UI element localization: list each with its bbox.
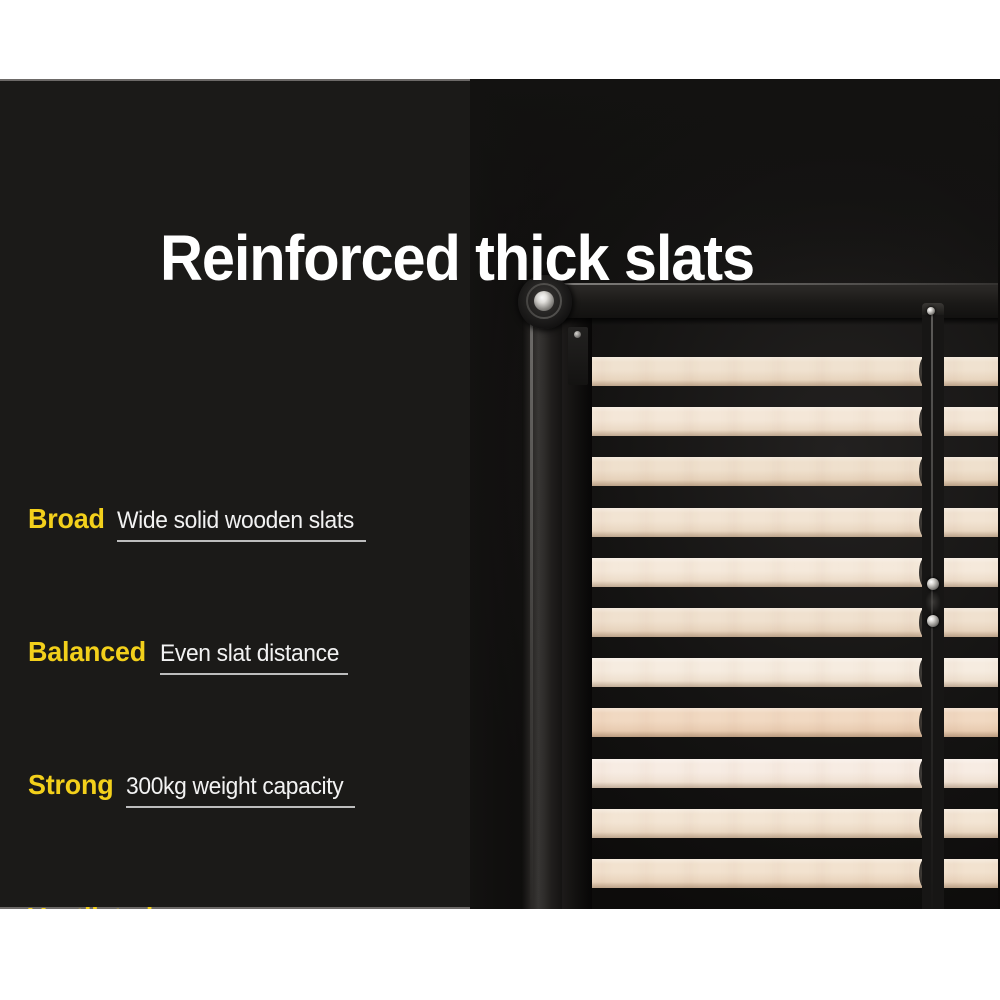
wooden-slat [588, 457, 926, 486]
wooden-slat [940, 658, 1000, 687]
dark-content-panel: Reinforced thick slats BroadWide solid w… [0, 79, 1000, 909]
feature-description: 300kg weight capacity [126, 773, 343, 801]
slat-highlight [940, 407, 1000, 412]
wooden-slat [588, 859, 926, 888]
wooden-slat [588, 708, 926, 737]
wooden-slat [588, 759, 926, 788]
slat-shadow [940, 531, 1000, 537]
feature-term: Broad [28, 503, 105, 535]
center-bar-joint [925, 591, 941, 613]
slat-shadow [588, 882, 926, 888]
feature-row: BalancedEven slat distance [28, 636, 348, 675]
page-title: Reinforced thick slats [160, 226, 830, 290]
slat-shadow [588, 380, 926, 386]
slat-highlight [588, 508, 926, 513]
slat-shadow [588, 782, 926, 788]
feature-row: Strong300kg weight capacity [28, 769, 355, 808]
wooden-slat [940, 809, 1000, 838]
slat-shadow [940, 480, 1000, 486]
wooden-slat [588, 608, 926, 637]
slat-shadow [588, 581, 926, 587]
slat-shadow [940, 631, 1000, 637]
slat-shadow [588, 631, 926, 637]
slat-shadow [588, 832, 926, 838]
slat-highlight [940, 608, 1000, 613]
feature-term: Ventilated [28, 902, 153, 909]
slat-highlight [588, 759, 926, 764]
feature-item: BalancedEven slat distance [0, 542, 540, 675]
center-bar-screw-lower-icon [927, 615, 939, 627]
wooden-slat [940, 859, 1000, 888]
wooden-slat [940, 558, 1000, 587]
slat-highlight [940, 457, 1000, 462]
feature-description-wrap: Even slat distance [160, 640, 348, 675]
slat-shadow [940, 731, 1000, 737]
slat-highlight [940, 759, 1000, 764]
slat-highlight [588, 859, 926, 864]
slat-shadow [940, 581, 1000, 587]
feature-item: BroadWide solid wooden slats [0, 409, 540, 542]
slat-shadow [588, 531, 926, 537]
wooden-slat [588, 658, 926, 687]
wooden-slat [940, 407, 1000, 436]
feature-description-wrap: Wide solid wooden slats [117, 507, 366, 542]
slat-highlight [940, 809, 1000, 814]
left-rail-inner-face [562, 297, 592, 909]
slat-shadow [940, 832, 1000, 838]
slat-highlight [588, 558, 926, 563]
center-bar-screw-top-icon [927, 307, 935, 315]
feature-row: VentilatedFresh and dry mattress at all … [28, 902, 523, 909]
center-bar-screw-middle-icon [927, 578, 939, 590]
slat-shadow [588, 430, 926, 436]
slat-shadow [940, 430, 1000, 436]
slat-highlight [588, 708, 926, 713]
slat-shadow [940, 782, 1000, 788]
feature-description-wrap: 300kg weight capacity [126, 773, 355, 808]
wooden-slat [588, 357, 926, 386]
feature-description-wrap: Fresh and dry mattress at all times [167, 906, 523, 909]
wooden-slat [940, 457, 1000, 486]
slat-shadow [940, 681, 1000, 687]
product-photo [470, 79, 1000, 909]
slat-shadow [588, 480, 926, 486]
slat-highlight [940, 357, 1000, 362]
wooden-slat [940, 759, 1000, 788]
slat-highlight [588, 658, 926, 663]
slat-highlight [940, 708, 1000, 713]
feature-description: Fresh and dry mattress at all times [167, 906, 505, 909]
slat-shadow [588, 731, 926, 737]
corner-tab-screw-icon [574, 331, 581, 338]
feature-item: VentilatedFresh and dry mattress at all … [0, 808, 540, 909]
feature-list: BroadWide solid wooden slatsBalancedEven… [0, 409, 540, 909]
feature-description: Wide solid wooden slats [117, 507, 354, 535]
slat-highlight [588, 608, 926, 613]
feature-item: Strong300kg weight capacity [0, 675, 540, 808]
wooden-slat [588, 809, 926, 838]
slat-highlight [588, 457, 926, 462]
slat-highlight [940, 558, 1000, 563]
wooden-slat [940, 357, 1000, 386]
feature-row: BroadWide solid wooden slats [28, 503, 366, 542]
marketing-image: Reinforced thick slats BroadWide solid w… [0, 0, 1000, 1000]
slat-highlight [588, 809, 926, 814]
slat-highlight [588, 357, 926, 362]
slat-shadow [940, 380, 1000, 386]
wooden-slat [940, 608, 1000, 637]
corner-bolt-icon [534, 291, 554, 311]
slat-highlight [588, 407, 926, 412]
wooden-slat [940, 708, 1000, 737]
slat-highlight [940, 508, 1000, 513]
slat-highlight [940, 859, 1000, 864]
wooden-slat [588, 508, 926, 537]
feature-description: Even slat distance [160, 640, 339, 668]
feature-term: Strong [28, 769, 113, 801]
slat-shadow [940, 882, 1000, 888]
wooden-slat [940, 508, 1000, 537]
slat-highlight [940, 658, 1000, 663]
wooden-slat [588, 407, 926, 436]
wooden-slat [588, 558, 926, 587]
slat-shadow [588, 681, 926, 687]
feature-term: Balanced [28, 636, 146, 668]
